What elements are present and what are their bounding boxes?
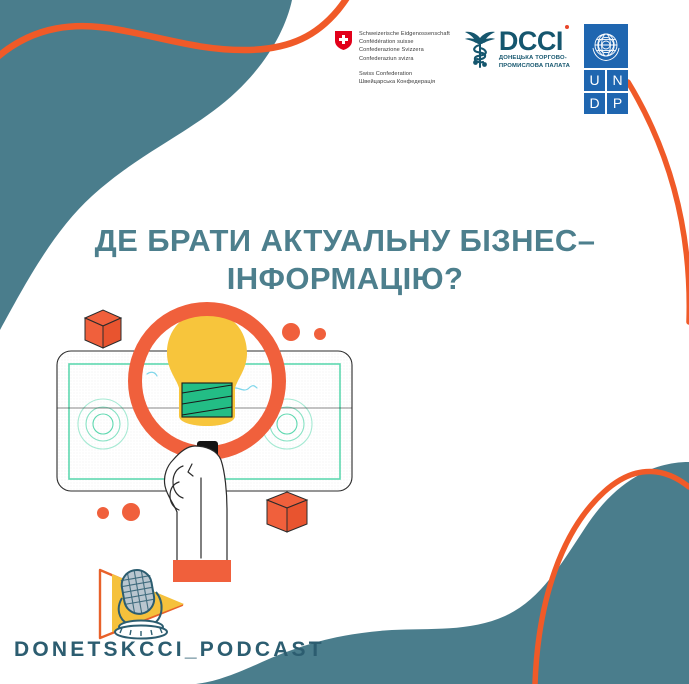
- swiss-line-fr: Confédération suisse: [359, 38, 450, 46]
- swiss-cross-icon: [335, 31, 352, 50]
- un-emblem-box: [584, 24, 628, 68]
- podcast-logo: DONETSKCCI_PODCAST: [8, 568, 336, 662]
- page-title-line1: ДЕ БРАТИ АКТУАЛЬНУ БІЗНЕС–: [60, 222, 630, 260]
- dcci-caduceus-icon: [464, 29, 496, 69]
- poster-canvas: Schweizerische Eidgenossenschaft Confédé…: [0, 0, 689, 684]
- dcci-letters: DCCI: [499, 28, 570, 54]
- dcci-subtitle-line1: ДОНЕЦЬКА ТОРГОВО-: [499, 55, 570, 63]
- orange-dot: [314, 328, 326, 340]
- dcci-wordmark: DCCI ДОНЕЦЬКА ТОРГОВО- ПРОМИСЛОВА ПАЛАТА: [499, 28, 570, 70]
- swiss-text-spacer: [359, 63, 450, 70]
- undp-letter-n: N: [607, 70, 628, 91]
- header-logos: Schweizerische Eidgenossenschaft Confédé…: [335, 24, 628, 114]
- swiss-line-uk: Швейцарська Конфедерація: [359, 78, 450, 86]
- un-globe-icon: [589, 29, 623, 63]
- undp-letter-u: U: [584, 70, 605, 91]
- undp-logo: U N D P: [584, 24, 628, 114]
- orange-cube-top-left: [85, 310, 121, 348]
- swiss-line-en: Swiss Confederation: [359, 70, 450, 78]
- swiss-confederation-logo: Schweizerische Eidgenossenschaft Confédé…: [335, 24, 450, 86]
- dcci-subtitle-line2: ПРОМИСЛОВА ПАЛАТА: [499, 63, 570, 71]
- swiss-line-de: Schweizerische Eidgenossenschaft: [359, 30, 450, 38]
- orange-dot: [97, 507, 109, 519]
- swiss-line-it: Confederazione Svizzera: [359, 46, 450, 54]
- lightbulb-base: [182, 383, 232, 417]
- lightbulb-icon: [167, 312, 247, 426]
- podcast-wordmark: DONETSKCCI_PODCAST: [14, 638, 336, 662]
- page-title-line2: ІНФОРМАЦІЮ?: [60, 260, 630, 298]
- orange-dot: [122, 503, 140, 521]
- dcci-subtitle: ДОНЕЦЬКА ТОРГОВО- ПРОМИСЛОВА ПАЛАТА: [499, 55, 570, 70]
- hand-icon: [164, 446, 227, 564]
- dcci-logo: DCCI ДОНЕЦЬКА ТОРГОВО- ПРОМИСЛОВА ПАЛАТА: [464, 24, 570, 70]
- swiss-confederation-text: Schweizerische Eidgenossenschaft Confédé…: [359, 30, 450, 86]
- magnifier-lightbulb-illustration: [55, 296, 385, 596]
- swiss-line-rm: Confederaziun svizra: [359, 55, 450, 63]
- orange-cube-bottom-right: [267, 492, 307, 532]
- undp-letter-d: D: [584, 93, 605, 114]
- orange-dot: [282, 323, 300, 341]
- undp-letter-p: P: [607, 93, 628, 114]
- page-title: ДЕ БРАТИ АКТУАЛЬНУ БІЗНЕС– ІНФОРМАЦІЮ?: [60, 222, 630, 298]
- microphone-play-icon: [86, 568, 336, 640]
- orange-arc-right: [628, 82, 689, 322]
- undp-letters-grid: U N D P: [584, 70, 628, 114]
